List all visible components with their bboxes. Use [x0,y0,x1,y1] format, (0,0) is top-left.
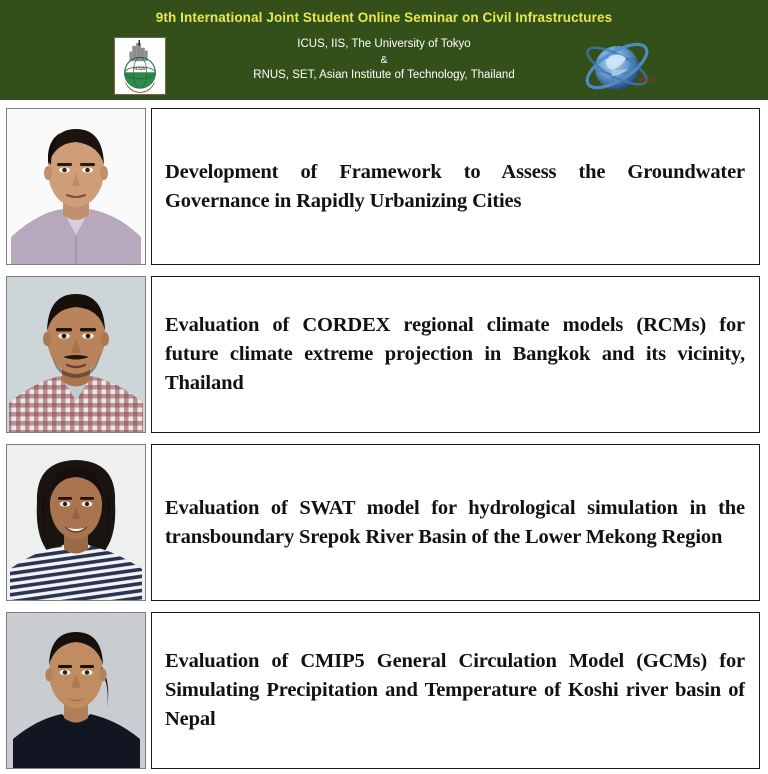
presentation-row: Evaluation of CORDEX regional climate mo… [0,276,768,436]
svg-text:ICUS: ICUS [134,66,146,72]
presentation-title: Development of Framework to Assess the G… [152,158,759,215]
presenter-photo-1 [6,108,146,265]
presenter-photo-4 [6,612,146,769]
presentation-title: Evaluation of SWAT model for hydrologica… [152,494,759,551]
presentation-row: Evaluation of CMIP5 General Circulation … [0,612,768,772]
seminar-title: 9th International Joint Student Online S… [0,10,768,25]
presentation-title: Evaluation of CORDEX regional climate mo… [152,311,759,397]
presentation-title-cell: Development of Framework to Assess the G… [151,108,760,265]
presentation-title-cell: Evaluation of CORDEX regional climate mo… [151,276,760,433]
presentation-title-cell: Evaluation of SWAT model for hydrologica… [151,444,760,601]
svg-text:RNUS: RNUS [638,78,654,84]
presenter-photo-3 [6,444,146,601]
presentation-row: Development of Framework to Assess the G… [0,108,768,268]
presentation-title: Evaluation of CMIP5 General Circulation … [152,647,759,733]
rnus-logo-icon: RNUS [576,30,658,98]
icus-logo-icon: ICUS [114,37,166,95]
presenter-photo-2 [6,276,146,433]
seminar-header-banner: 9th International Joint Student Online S… [0,0,768,100]
presentation-row: Evaluation of SWAT model for hydrologica… [0,444,768,604]
presentation-list: Development of Framework to Assess the G… [0,108,768,772]
presentation-title-cell: Evaluation of CMIP5 General Circulation … [151,612,760,769]
